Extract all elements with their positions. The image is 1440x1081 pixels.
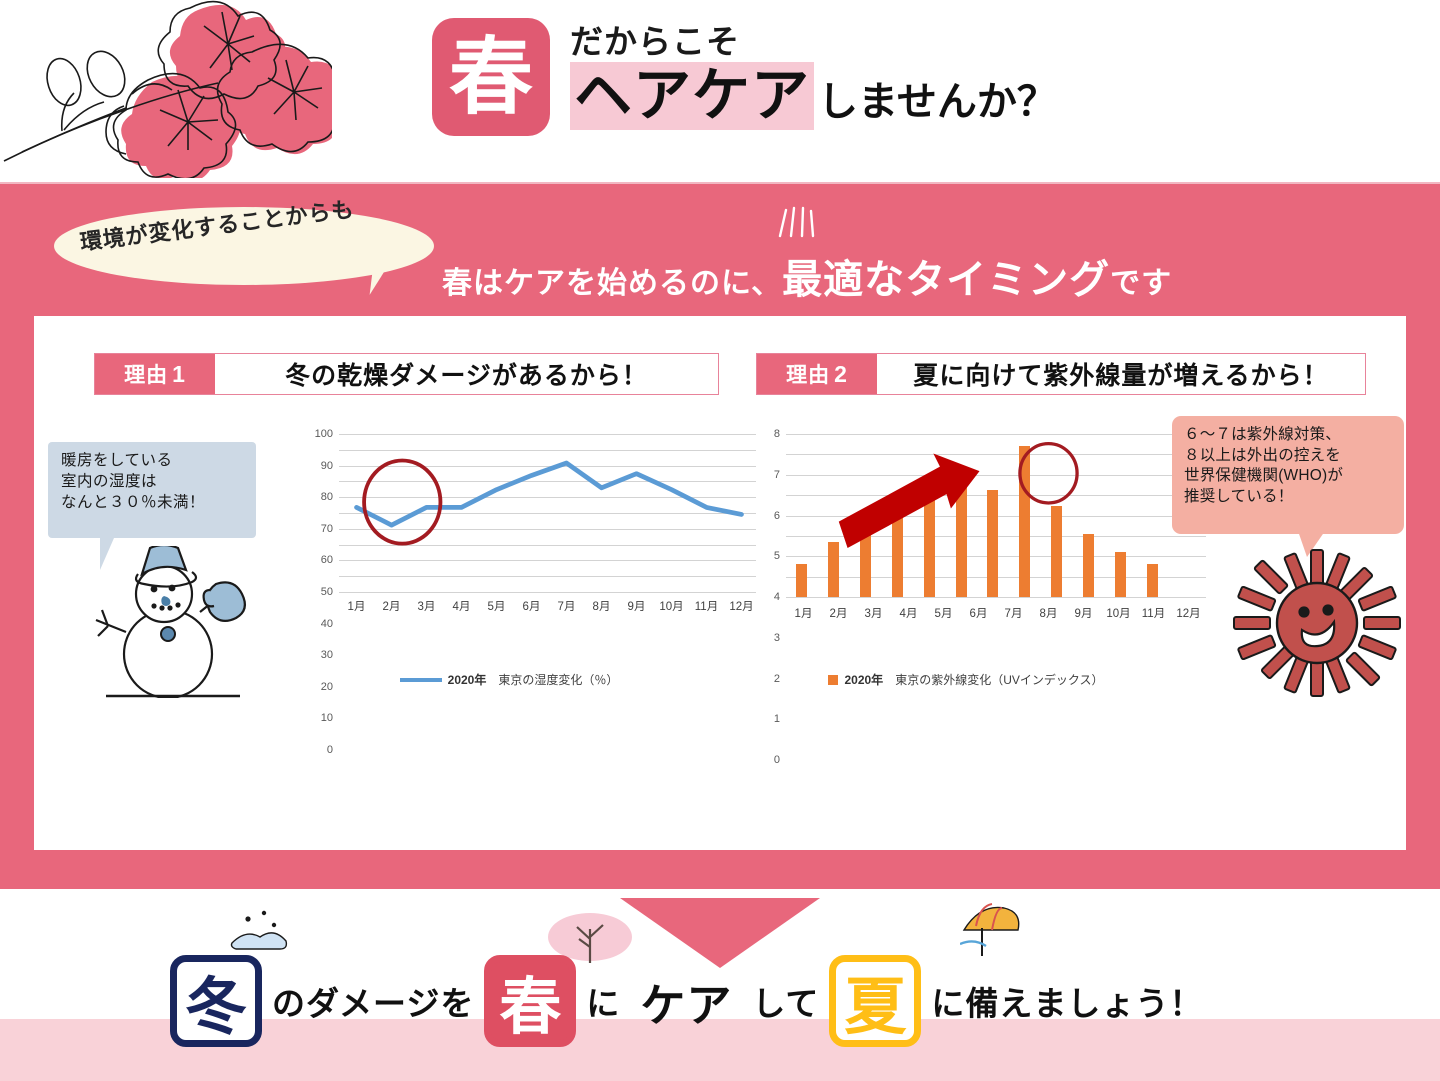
y-tick-label: 90 — [321, 460, 333, 472]
reason-1-header: 理由 1 冬の乾燥ダメージがあるから！ — [94, 353, 719, 395]
reason-2-header: 理由 2 夏に向けて紫外線量が増えるから！ — [756, 353, 1366, 395]
y-tick-label: 8 — [774, 428, 780, 440]
bottom-text-4: して — [752, 977, 819, 1025]
x-tick-label: 9月 — [1066, 605, 1101, 621]
uv-legend-swatch — [828, 675, 838, 685]
x-tick-label: 3月 — [409, 598, 444, 614]
snow-bubble-line-2: 室内の湿度は — [61, 472, 256, 493]
uv-info-bubble: ６〜７は紫外線対策、 ８以上は外出の控えを 世界保健機関(WHO)が 推奨してい… — [1172, 416, 1404, 534]
haru-badge: 春 — [432, 18, 550, 136]
title-line-1: だからこそ — [570, 24, 1057, 60]
seasonal-flow-row: 冬 のダメージを 春 に ケア して 夏 に備えましょう！ — [170, 946, 1280, 1056]
y-tick-label: 70 — [321, 523, 333, 535]
y-tick-label: 4 — [774, 591, 780, 603]
summer-box: 夏 — [829, 955, 921, 1047]
reason-1-title: 冬の乾燥ダメージがあるから！ — [215, 354, 718, 394]
x-tick-label: 1月 — [786, 605, 821, 621]
x-tick-label: 12月 — [724, 598, 759, 614]
reason-2-badge-label: 理由 — [786, 359, 830, 389]
y-tick-label: 10 — [321, 712, 333, 724]
humidity-legend-year: 2020年 — [448, 671, 487, 688]
humidity-legend-swatch — [400, 678, 442, 682]
x-tick-label: 11月 — [1136, 605, 1171, 621]
x-tick-label: 3月 — [856, 605, 891, 621]
y-tick-label: 30 — [321, 649, 333, 661]
snowman-speech-bubble: 暖房をしている 室内の湿度は なんと３０％未満！ — [48, 442, 256, 538]
x-tick-label: 12月 — [1171, 605, 1206, 621]
x-tick-label: 8月 — [1031, 605, 1066, 621]
x-tick-label: 7月 — [549, 598, 584, 614]
page-title: 春 だからこそ ヘアケア しませんか？ — [432, 18, 1057, 136]
bottom-text-3: ケア — [640, 969, 732, 1034]
x-tick-label: 11月 — [689, 598, 724, 614]
uv-bubble-tail — [1298, 531, 1325, 557]
x-tick-label: 2月 — [374, 598, 409, 614]
x-tick-label: 10月 — [1101, 605, 1136, 621]
y-tick-label: 0 — [327, 744, 333, 756]
bottom-text-5: に備えましょう！ — [931, 977, 1203, 1025]
y-tick-label: 80 — [321, 491, 333, 503]
band-heading-c: です — [1110, 258, 1172, 302]
band-heading-a: 春はケアを始めるのに、 — [442, 258, 782, 302]
cherry-blossom-illustration — [2, 0, 332, 178]
humidity-x-axis-labels: 1月2月3月4月5月6月7月8月9月10月11月12月 — [339, 598, 759, 614]
y-tick-label: 3 — [774, 632, 780, 644]
snowman-bubble-tail — [100, 536, 114, 570]
x-tick-label: 2月 — [821, 605, 856, 621]
humidity-line-chart: 0102030405060708090100 1月2月3月4月5月6月7月8月9… — [299, 426, 719, 626]
title-highlight: ヘアケア — [570, 62, 814, 130]
reason-1-badge-label: 理由 — [124, 359, 168, 389]
reason-2-title: 夏に向けて紫外線量が増えるから！ — [877, 354, 1365, 394]
winter-box: 冬 — [170, 955, 262, 1047]
uv-legend-name: 東京の紫外線変化（UVインデックス） — [895, 671, 1103, 688]
reason-2-badge: 理由 2 — [757, 354, 877, 394]
x-tick-label: 8月 — [584, 598, 619, 614]
reason-1-badge: 理由 1 — [95, 354, 215, 394]
band-heading-b: 最適なタイミング — [782, 247, 1110, 305]
y-tick-label: 6 — [774, 510, 780, 522]
uv-bubble-line-4: 推奨している！ — [1184, 487, 1404, 508]
uv-bubble-line-3: 世界保健機関(WHO)が — [1184, 466, 1404, 487]
uv-legend-year: 2020年 — [844, 671, 883, 688]
title-tail: しませんか？ — [818, 69, 1057, 127]
y-tick-label: 100 — [315, 428, 333, 440]
uv-x-axis-labels: 1月2月3月4月5月6月7月8月9月10月11月12月 — [786, 605, 1206, 621]
x-tick-label: 6月 — [961, 605, 996, 621]
y-tick-label: 7 — [774, 469, 780, 481]
uv-bubble-line-1: ６〜７は紫外線対策、 — [1184, 425, 1404, 446]
x-tick-label: 4月 — [444, 598, 479, 614]
bottom-text-2: に — [586, 977, 620, 1025]
x-tick-label: 9月 — [619, 598, 654, 614]
bottom-text-1: のダメージを — [272, 977, 474, 1025]
y-tick-label: 1 — [774, 713, 780, 725]
x-tick-label: 10月 — [654, 598, 689, 614]
uv-bar-chart: 012345678 1月2月3月4月5月6月7月8月9月10月11月12月 — [756, 426, 1176, 631]
y-tick-label: 60 — [321, 554, 333, 566]
band-heading: 春はケアを始めるのに、 最適なタイミング です — [442, 247, 1172, 305]
y-tick-label: 40 — [321, 618, 333, 630]
x-tick-label: 5月 — [479, 598, 514, 614]
y-tick-label: 0 — [774, 754, 780, 766]
reason-1-badge-number: 1 — [172, 361, 186, 388]
x-tick-label: 5月 — [926, 605, 961, 621]
humidity-legend-name: 東京の湿度変化（％） — [498, 671, 618, 688]
uv-legend: 2020年 東京の紫外線変化（UVインデックス） — [756, 671, 1176, 688]
x-tick-label: 6月 — [514, 598, 549, 614]
snow-bubble-line-3: なんと３０％未満！ — [61, 493, 256, 514]
reason-2-badge-number: 2 — [834, 361, 848, 388]
x-tick-label: 7月 — [996, 605, 1031, 621]
spring-box: 春 — [484, 955, 576, 1047]
x-tick-label: 1月 — [339, 598, 374, 614]
humidity-legend: 2020年 東京の湿度変化（％） — [299, 671, 719, 688]
y-tick-label: 50 — [321, 586, 333, 598]
header: 春 だからこそ ヘアケア しませんか？ — [0, 0, 1440, 184]
x-tick-label: 4月 — [891, 605, 926, 621]
sparkle-icon — [775, 206, 821, 240]
uv-bubble-line-2: ８以上は外出の控えを — [1184, 446, 1404, 467]
reasons-card: 理由 1 冬の乾燥ダメージがあるから！ 理由 2 夏に向けて紫外線量が増えるから… — [34, 316, 1406, 850]
infographic-page: 春 だからこそ ヘアケア しませんか？ 環境が変化することからも 春はケアを始め… — [0, 0, 1440, 1081]
snow-bubble-line-1: 暖房をしている — [61, 451, 256, 472]
y-tick-label: 5 — [774, 550, 780, 562]
